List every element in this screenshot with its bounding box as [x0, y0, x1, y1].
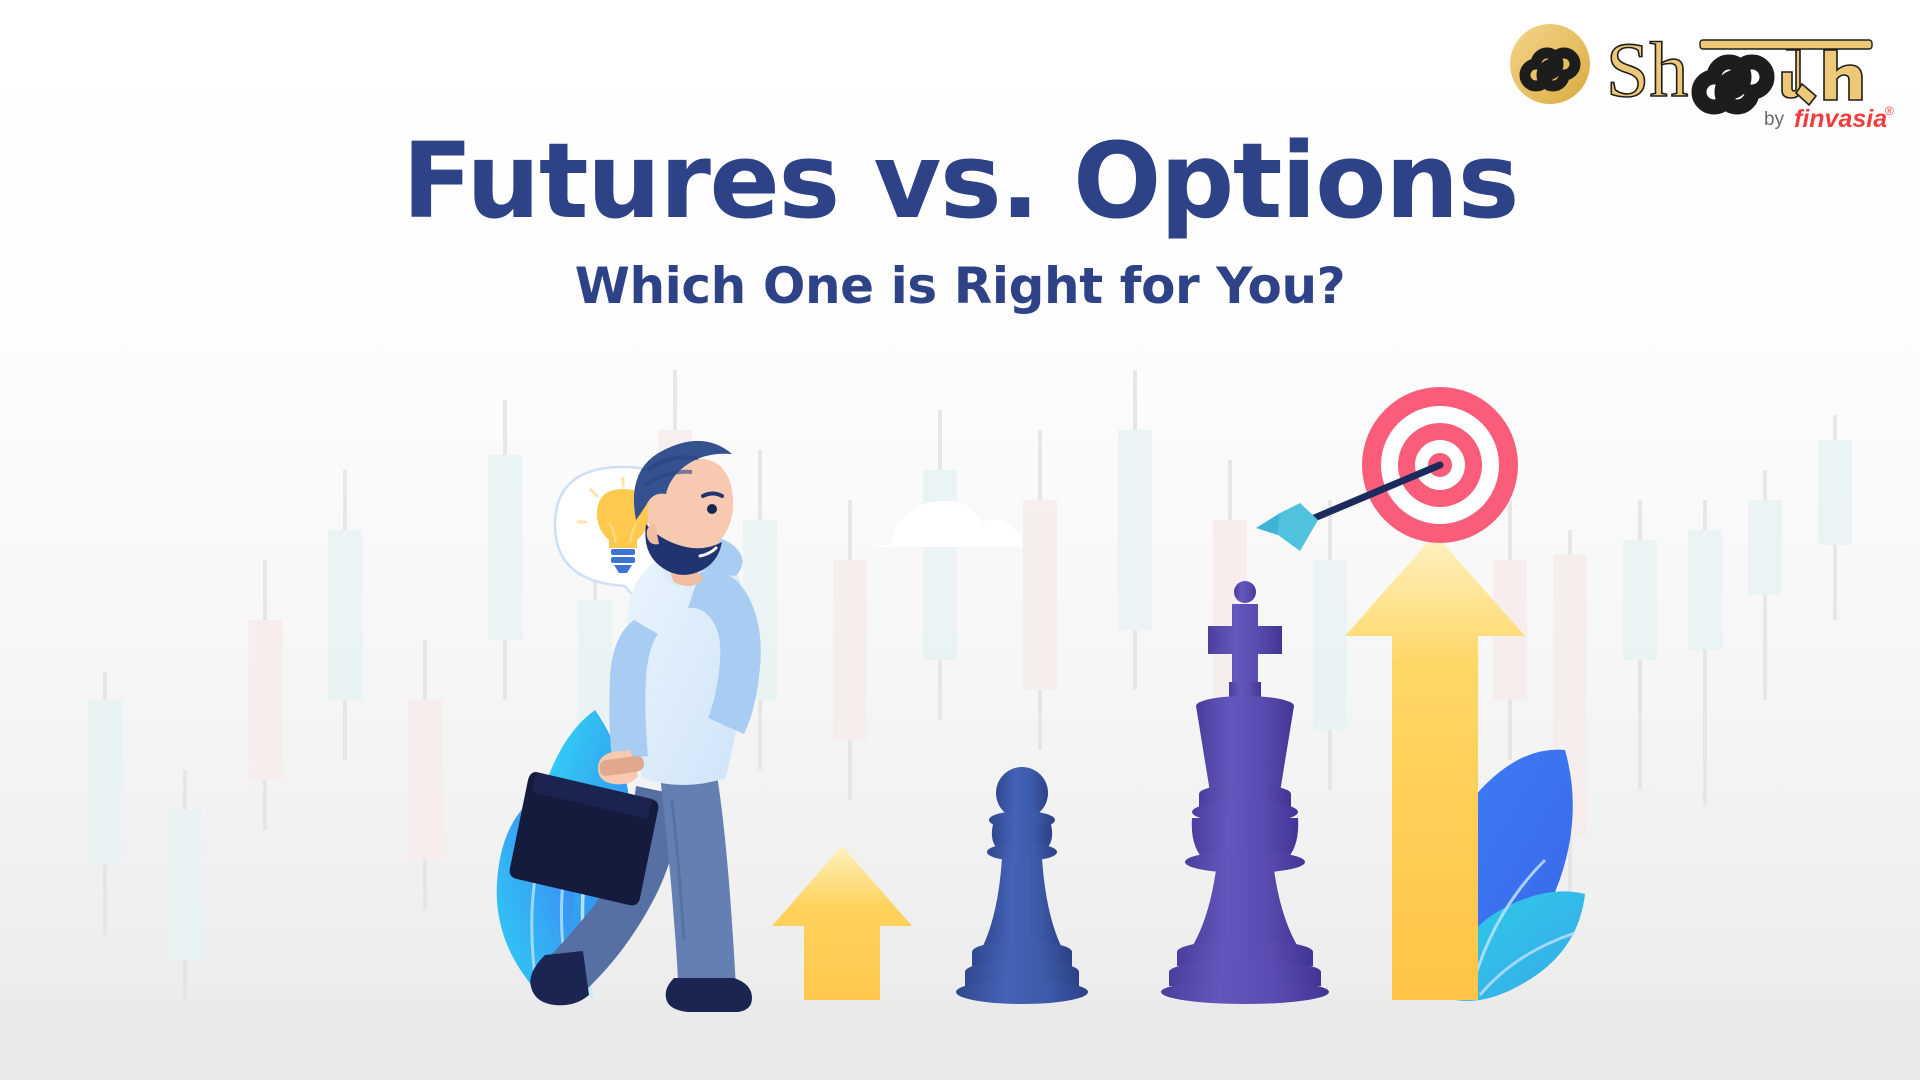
- candle-wick: [1228, 460, 1232, 760]
- leaves-left: [497, 710, 632, 1000]
- arrow-up-small: [772, 846, 912, 1000]
- leaf-small-right: [1455, 891, 1585, 1001]
- page-title: Futures vs. Options: [0, 128, 1920, 234]
- candle-wick: [938, 410, 942, 720]
- candle-body: [168, 810, 202, 960]
- candle-body: [88, 700, 122, 865]
- target-arrow-icon: [1256, 465, 1440, 551]
- forearm: [694, 537, 743, 576]
- candle-body: [1213, 520, 1247, 700]
- candle-body: [923, 470, 957, 660]
- candle-body: [1413, 620, 1447, 790]
- back-shoe: [530, 951, 589, 1005]
- poster-canvas: Sh by finvasia ® Futures vs. Options Whi…: [0, 0, 1920, 1080]
- arrow-up-large: [1345, 534, 1525, 1000]
- target-board: [1362, 387, 1518, 543]
- back-leg: [548, 786, 684, 990]
- leaf-large-right: [1424, 750, 1572, 1000]
- candle-body: [1748, 500, 1782, 595]
- candle-body: [1623, 540, 1657, 660]
- candle-wick: [343, 470, 347, 760]
- candle-body: [408, 700, 442, 860]
- eyebrow: [703, 494, 722, 497]
- leaf-large-left: [530, 710, 631, 1000]
- briefcase: [510, 756, 659, 905]
- heading-block: Futures vs. Options Which One is Right f…: [0, 128, 1920, 313]
- briefcase-hand: [598, 750, 638, 784]
- leaf-small-left: [497, 794, 574, 1000]
- candle-body: [743, 520, 777, 700]
- candle-body: [1493, 560, 1527, 700]
- candle-body: [578, 600, 612, 760]
- infinity-icon: [1510, 24, 1590, 104]
- logo-wordmark-latin: Sh: [1606, 26, 1688, 113]
- front-shoe: [666, 978, 752, 1012]
- candle-wick: [673, 370, 677, 660]
- logo-wordmark-devanagari: [1782, 50, 1862, 105]
- candle-wick: [1833, 415, 1837, 620]
- cloud-icon: [874, 501, 1022, 547]
- shirt-collar: [662, 558, 700, 587]
- candle-wick: [423, 640, 427, 910]
- neck: [670, 548, 704, 586]
- candle-wick: [263, 560, 267, 830]
- candle-body: [488, 455, 522, 640]
- businessman: [510, 441, 761, 1012]
- candle-wick: [503, 400, 507, 700]
- candle-wick: [1038, 430, 1042, 750]
- candle-body: [1688, 530, 1722, 650]
- face: [648, 458, 734, 554]
- page-subtitle: Which One is Right for You?: [0, 260, 1920, 313]
- candle-body: [328, 530, 362, 700]
- hair: [634, 441, 732, 520]
- eye: [707, 504, 717, 514]
- leaves-right: [1424, 750, 1585, 1001]
- logo-registered-mark: ®: [1885, 104, 1894, 118]
- torso-shirt: [627, 548, 747, 785]
- candle-body: [1023, 500, 1057, 690]
- candle-wick: [1328, 500, 1332, 790]
- chess-pawn: [956, 767, 1088, 1004]
- candle-wick: [183, 770, 187, 1000]
- candle-body: [1818, 440, 1852, 545]
- candle-wick: [758, 450, 762, 770]
- candle-wick: [593, 540, 597, 820]
- logo-byline-prefix: by: [1764, 109, 1785, 130]
- front-leg: [660, 769, 736, 989]
- candle-body: [1118, 430, 1152, 630]
- candle-wick: [848, 500, 852, 800]
- thought-bubble: [555, 467, 691, 610]
- shoonya-logo[interactable]: Sh by finvasia ®: [1502, 14, 1902, 134]
- ear: [647, 524, 659, 544]
- head: [634, 441, 733, 575]
- candle-wick: [1568, 530, 1572, 900]
- logo-infinity-glyph: [1699, 62, 1767, 107]
- logo-shirorekha: [1700, 40, 1872, 49]
- beard: [645, 524, 722, 575]
- candle-body: [1313, 560, 1347, 730]
- front-arm: [688, 571, 761, 734]
- lightbulb-icon: [578, 478, 668, 573]
- candle-body: [833, 560, 867, 740]
- candle-wick: [1763, 470, 1767, 700]
- candle-body: [1553, 555, 1587, 835]
- back-arm: [609, 620, 658, 760]
- candle-wick: [1133, 370, 1137, 690]
- candle-wick: [103, 672, 107, 935]
- hand: [660, 505, 723, 541]
- king-cross: [1208, 604, 1282, 682]
- candle-wick: [1638, 500, 1642, 790]
- candle-wick: [1428, 560, 1432, 850]
- candle-wick: [1508, 500, 1512, 760]
- chess-king: [1161, 581, 1329, 1004]
- candle-body: [248, 620, 282, 780]
- candle-wick: [1703, 500, 1707, 805]
- candle-body: [658, 430, 692, 600]
